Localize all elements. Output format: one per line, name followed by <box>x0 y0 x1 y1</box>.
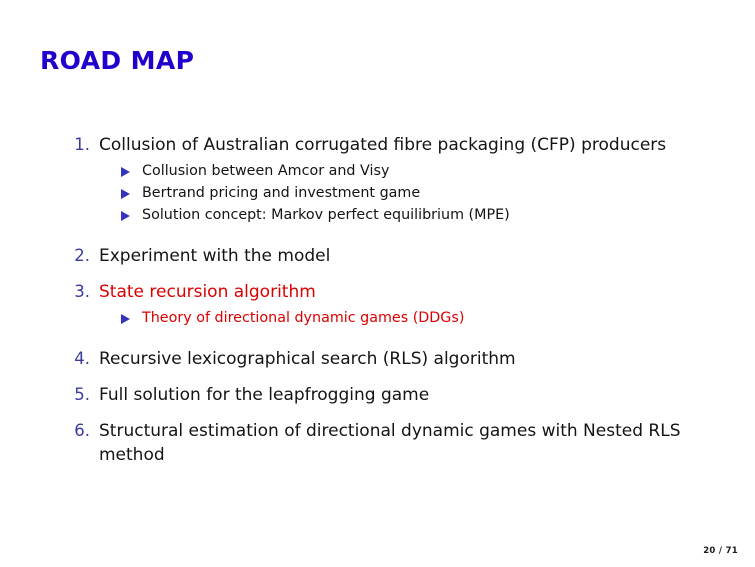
list-item-label: Full solution for the leapfrogging game <box>99 383 728 407</box>
list-item-number: 1. <box>68 133 90 157</box>
list-item-number: 4. <box>68 347 90 371</box>
list-item-label: State recursion algorithm <box>99 280 728 304</box>
triangle-right-icon <box>121 189 130 199</box>
list-item[interactable]: 2. Experiment with the model <box>68 244 728 268</box>
list-item[interactable]: Bertrand pricing and investment game <box>99 183 728 204</box>
list-item[interactable]: Theory of directional dynamic games (DDG… <box>99 308 728 329</box>
list-item[interactable]: Collusion between Amcor and Visy <box>99 161 728 182</box>
sub-list: Collusion between Amcor and Visy Bertran… <box>99 161 728 226</box>
list-item-number: 6. <box>68 419 90 443</box>
page-number: 20 / 71 <box>703 546 738 556</box>
sub-item-label: Theory of directional dynamic games (DDG… <box>142 308 728 329</box>
sub-item-label: Collusion between Amcor and Visy <box>142 161 728 182</box>
triangle-right-icon <box>121 314 130 324</box>
list-item[interactable]: Solution concept: Markov perfect equilib… <box>99 205 728 226</box>
list-item[interactable]: 5. Full solution for the leapfrogging ga… <box>68 383 728 407</box>
list-item[interactable]: 6. Structural estimation of directional … <box>68 419 728 467</box>
presentation-slide: ROAD MAP 1. Collusion of Australian corr… <box>0 0 755 567</box>
list-item[interactable]: 4. Recursive lexicographical search (RLS… <box>68 347 728 371</box>
list-item-number: 5. <box>68 383 90 407</box>
list-item-label: Recursive lexicographical search (RLS) a… <box>99 347 728 371</box>
list-item-number: 2. <box>68 244 90 268</box>
sub-item-label: Bertrand pricing and investment game <box>142 183 728 204</box>
list-item-number: 3. <box>68 280 90 304</box>
sub-item-label: Solution concept: Markov perfect equilib… <box>142 205 728 226</box>
list-item[interactable]: 3. State recursion algorithm Theory of d… <box>68 280 728 329</box>
list-item-label: Experiment with the model <box>99 244 728 268</box>
list-item[interactable]: 1. Collusion of Australian corrugated fi… <box>68 133 728 226</box>
sub-list: Theory of directional dynamic games (DDG… <box>99 308 728 329</box>
triangle-right-icon <box>121 211 130 221</box>
roadmap-enumerated-list: 1. Collusion of Australian corrugated fi… <box>68 133 728 479</box>
page-title: ROAD MAP <box>40 46 194 76</box>
list-item-label: Collusion of Australian corrugated fibre… <box>99 133 728 157</box>
triangle-right-icon <box>121 167 130 177</box>
list-item-label: Structural estimation of directional dyn… <box>99 419 728 467</box>
